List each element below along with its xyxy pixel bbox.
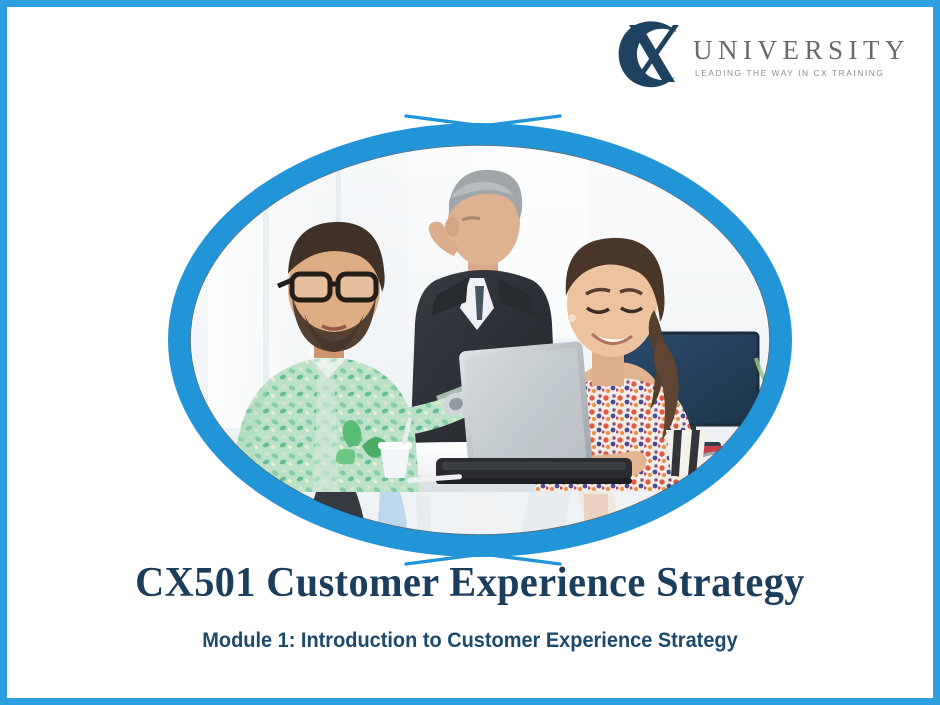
logo-tagline: LEADING THE WAY IN CX TRAINING [693,69,910,77]
photo-medallion [168,128,792,552]
title-block: CX501 Customer Experience Strategy Modul… [0,560,940,653]
logo-wordmark-block: UNIVERSITY LEADING THE WAY IN CX TRAININ… [693,31,910,77]
module-title: Module 1: Introduction to Customer Exper… [24,628,917,653]
title-slide: UNIVERSITY LEADING THE WAY IN CX TRAININ… [0,0,940,705]
cx-university-logo: UNIVERSITY LEADING THE WAY IN CX TRAININ… [615,18,910,90]
cx-monogram-icon [615,19,689,89]
logo-wordmark: UNIVERSITY [693,37,910,64]
course-title: CX501 Customer Experience Strategy [19,560,921,606]
